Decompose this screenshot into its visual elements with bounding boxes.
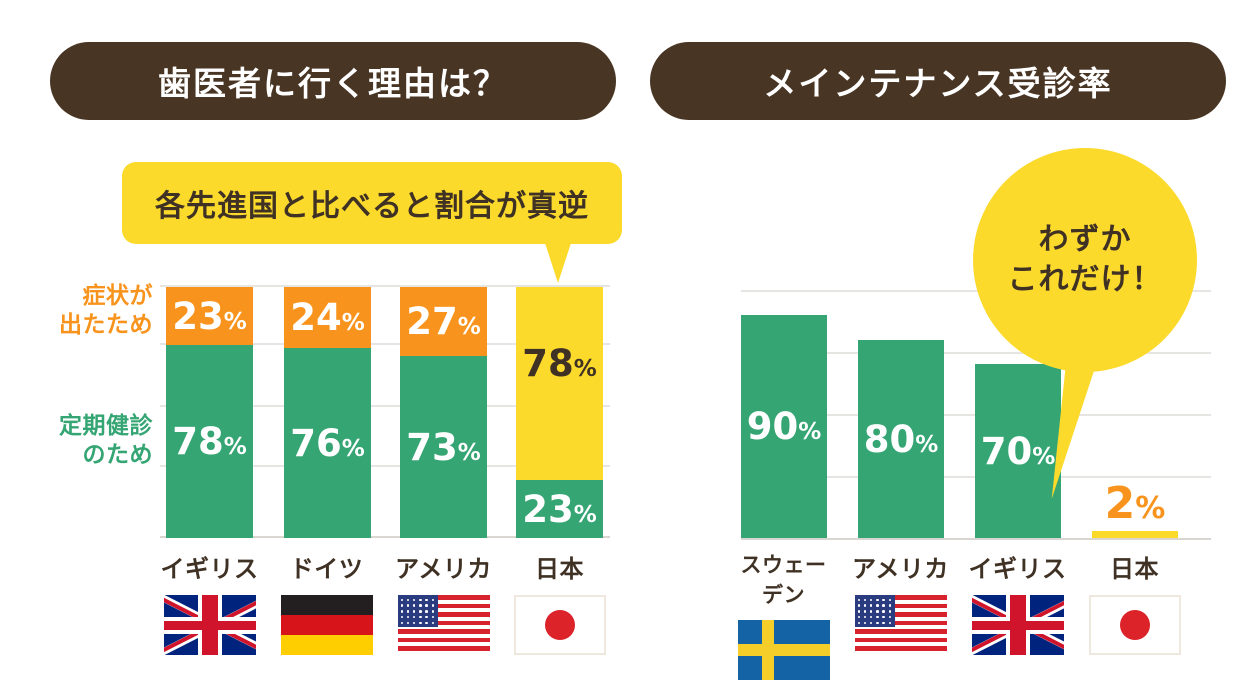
- percent-symbol: %: [342, 436, 365, 462]
- uk-flag: [972, 595, 1064, 655]
- bar-usa-checkup-value: 73: [406, 426, 458, 469]
- category-label: イギリス: [160, 549, 259, 584]
- bar-uk[interactable]: 70%: [975, 364, 1061, 538]
- category-uk: イギリス: [968, 549, 1067, 655]
- uk-flag: [164, 595, 256, 655]
- category-label: アメリカ: [394, 549, 493, 584]
- percent-symbol: %: [798, 419, 821, 445]
- category-label: 日本: [510, 549, 609, 584]
- bar-japan-value: 2: [1105, 478, 1136, 529]
- bar-germany-symptom: 24%: [284, 287, 371, 348]
- percent-symbol: %: [224, 434, 247, 460]
- bar-japan-symptom: 78%: [516, 287, 603, 480]
- percent-symbol: %: [224, 309, 247, 335]
- right-callout-line1: わずか: [1039, 220, 1132, 261]
- bar-japan-symptom-value: 78: [522, 342, 574, 385]
- bar-sweden[interactable]: 90%: [741, 315, 827, 538]
- left-chart-title: 歯医者に行く理由は？: [50, 42, 616, 120]
- sweden-flag: [738, 620, 830, 680]
- bar-uk-checkup: 78%: [166, 345, 253, 538]
- percent-symbol: %: [574, 356, 597, 382]
- bar-usa[interactable]: 80%: [858, 340, 944, 538]
- category-label: 日本: [1085, 549, 1184, 584]
- category-japan: 日本: [510, 549, 609, 655]
- bar-germany-checkup: 76%: [284, 348, 371, 538]
- legend-checkup: 定期健診 のため: [8, 412, 153, 471]
- left-callout-bubble: 各先進国と比べると割合が真逆: [122, 162, 622, 244]
- left-callout-tail: [545, 243, 571, 283]
- bar-japan-checkup: 23%: [516, 480, 603, 538]
- category-label: スウェーデン: [734, 549, 833, 609]
- usa-flag: [398, 595, 490, 655]
- category-japan: 日本: [1085, 549, 1184, 655]
- bar-usa-symptom: 27%: [400, 287, 487, 356]
- legend-symptom-line2: 出たため: [8, 311, 153, 340]
- category-uk: イギリス: [160, 549, 259, 655]
- bar-usa[interactable]: 27% 73%: [400, 287, 487, 538]
- bar-uk-symptom-value: 23: [172, 295, 224, 338]
- bar-germany-symptom-value: 24: [290, 296, 342, 339]
- bar-usa-value: 80: [864, 418, 916, 461]
- japan-flag: [514, 595, 606, 655]
- bar-usa-symptom-value: 27: [406, 300, 458, 343]
- category-sweden: スウェーデン: [734, 549, 833, 680]
- percent-symbol: %: [458, 440, 481, 466]
- bar-sweden-value: 90: [747, 405, 799, 448]
- right-chart-title: メインテナンス受診率: [650, 42, 1226, 120]
- right-chart-panel: メインテナンス受診率 わずか これだけ！ 100% 50% 0% 90% 80%…: [630, 0, 1240, 700]
- category-label: ドイツ: [277, 549, 376, 584]
- bar-japan[interactable]: 78% 23%: [516, 287, 603, 538]
- category-usa: アメリカ: [394, 549, 493, 655]
- germany-flag: [281, 595, 373, 655]
- percent-symbol: %: [1032, 444, 1055, 470]
- legend-symptom-line1: 症状が: [8, 282, 153, 311]
- category-usa: アメリカ: [851, 549, 950, 655]
- bar-uk-checkup-value: 78: [172, 420, 224, 463]
- percent-symbol: %: [1135, 491, 1165, 526]
- category-label: アメリカ: [851, 549, 950, 584]
- category-germany: ドイツ: [277, 549, 376, 655]
- right-callout-bubble: わずか これだけ！: [973, 148, 1197, 372]
- legend-checkup-line1: 定期健診: [8, 412, 153, 441]
- bar-japan-checkup-value: 23: [522, 488, 574, 531]
- percent-symbol: %: [458, 314, 481, 340]
- percent-symbol: %: [342, 310, 365, 336]
- bar-germany[interactable]: 24% 76%: [284, 287, 371, 538]
- bar-japan[interactable]: 2%: [1092, 531, 1178, 538]
- bar-uk-value: 70: [981, 430, 1033, 473]
- bar-uk[interactable]: 23% 78%: [166, 287, 253, 538]
- left-plot-area: 23% 78% 24% 76% 27% 73%: [160, 285, 610, 538]
- category-label: イギリス: [968, 549, 1067, 584]
- bar-germany-checkup-value: 76: [290, 422, 342, 465]
- bar-uk-symptom: 23%: [166, 287, 253, 345]
- legend-symptom: 症状が 出たため: [8, 282, 153, 341]
- legend-checkup-line2: のため: [8, 441, 153, 470]
- percent-symbol: %: [574, 502, 597, 528]
- japan-flag: [1089, 595, 1181, 655]
- usa-flag: [855, 595, 947, 655]
- percent-symbol: %: [915, 432, 938, 458]
- right-callout-line2: これだけ！: [1008, 260, 1163, 301]
- axis-baseline: [741, 538, 1211, 540]
- left-chart-panel: 歯医者に行く理由は？ 各先進国と比べると割合が真逆 症状が 出たため 定期健診 …: [0, 0, 630, 700]
- bar-usa-checkup: 73%: [400, 356, 487, 538]
